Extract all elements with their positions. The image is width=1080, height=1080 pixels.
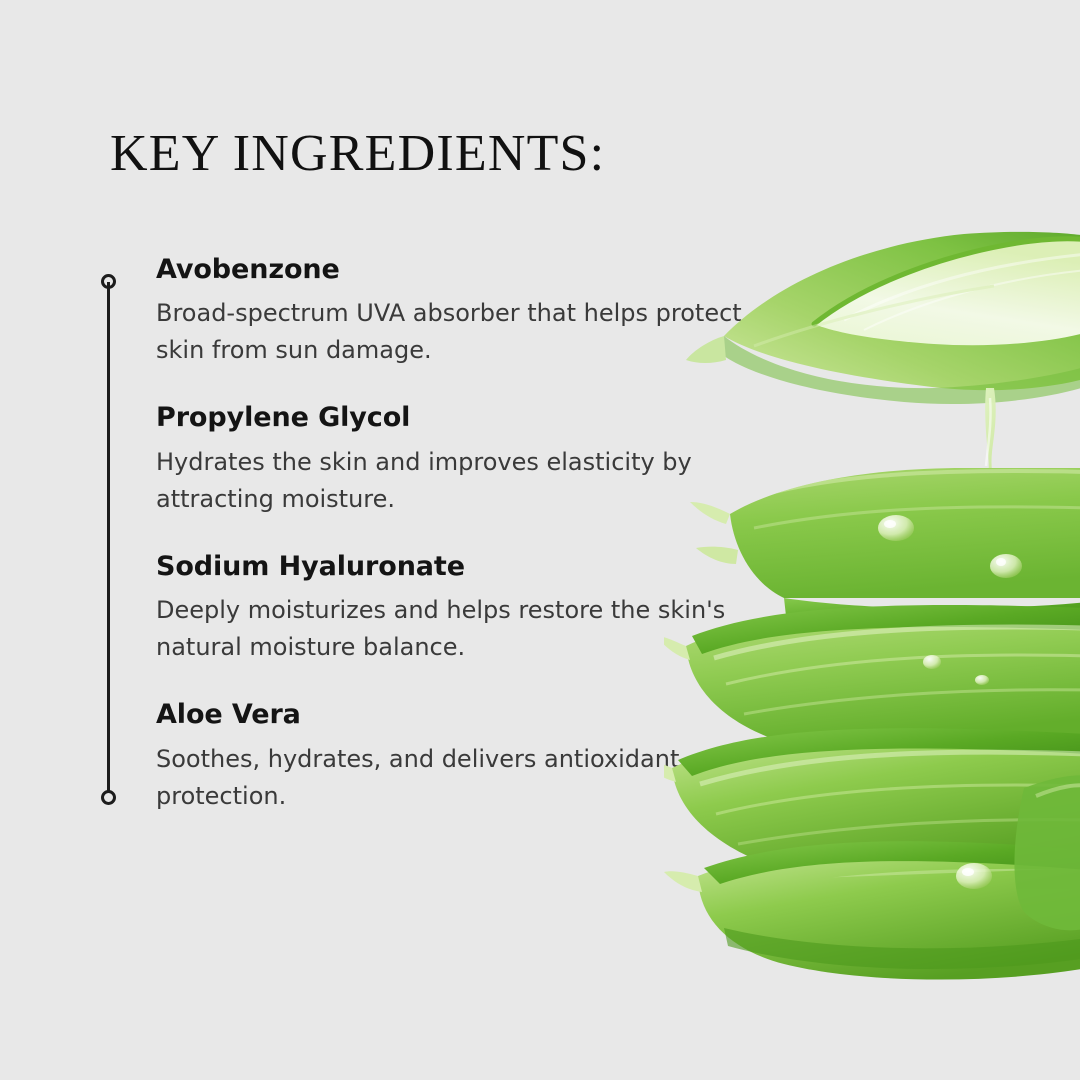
- ingredient-description: Hydrates the skin and improves elasticit…: [156, 444, 746, 518]
- aloe-slice-1: [690, 468, 1080, 626]
- aloe-leaf-background: [1014, 775, 1080, 930]
- timeline-end-dot-icon: [101, 790, 116, 805]
- page-title: KEY INGREDIENTS:: [110, 127, 605, 182]
- aloe-vera-illustration: [664, 228, 1080, 988]
- key-ingredients-card: KEY INGREDIENTS: Avobenzone Broad-spectr…: [0, 0, 1080, 1080]
- ingredient-description: Soothes, hydrates, and delivers antioxid…: [156, 741, 746, 815]
- timeline-rail: [99, 270, 119, 810]
- aloe-vera-image: [664, 228, 1080, 988]
- ingredient-description: Deeply moisturizes and helps restore the…: [156, 592, 746, 666]
- timeline-line: [107, 282, 110, 798]
- ingredient-description: Broad-spectrum UVA absorber that helps p…: [156, 295, 746, 369]
- aloe-leaf-top: [686, 232, 1080, 404]
